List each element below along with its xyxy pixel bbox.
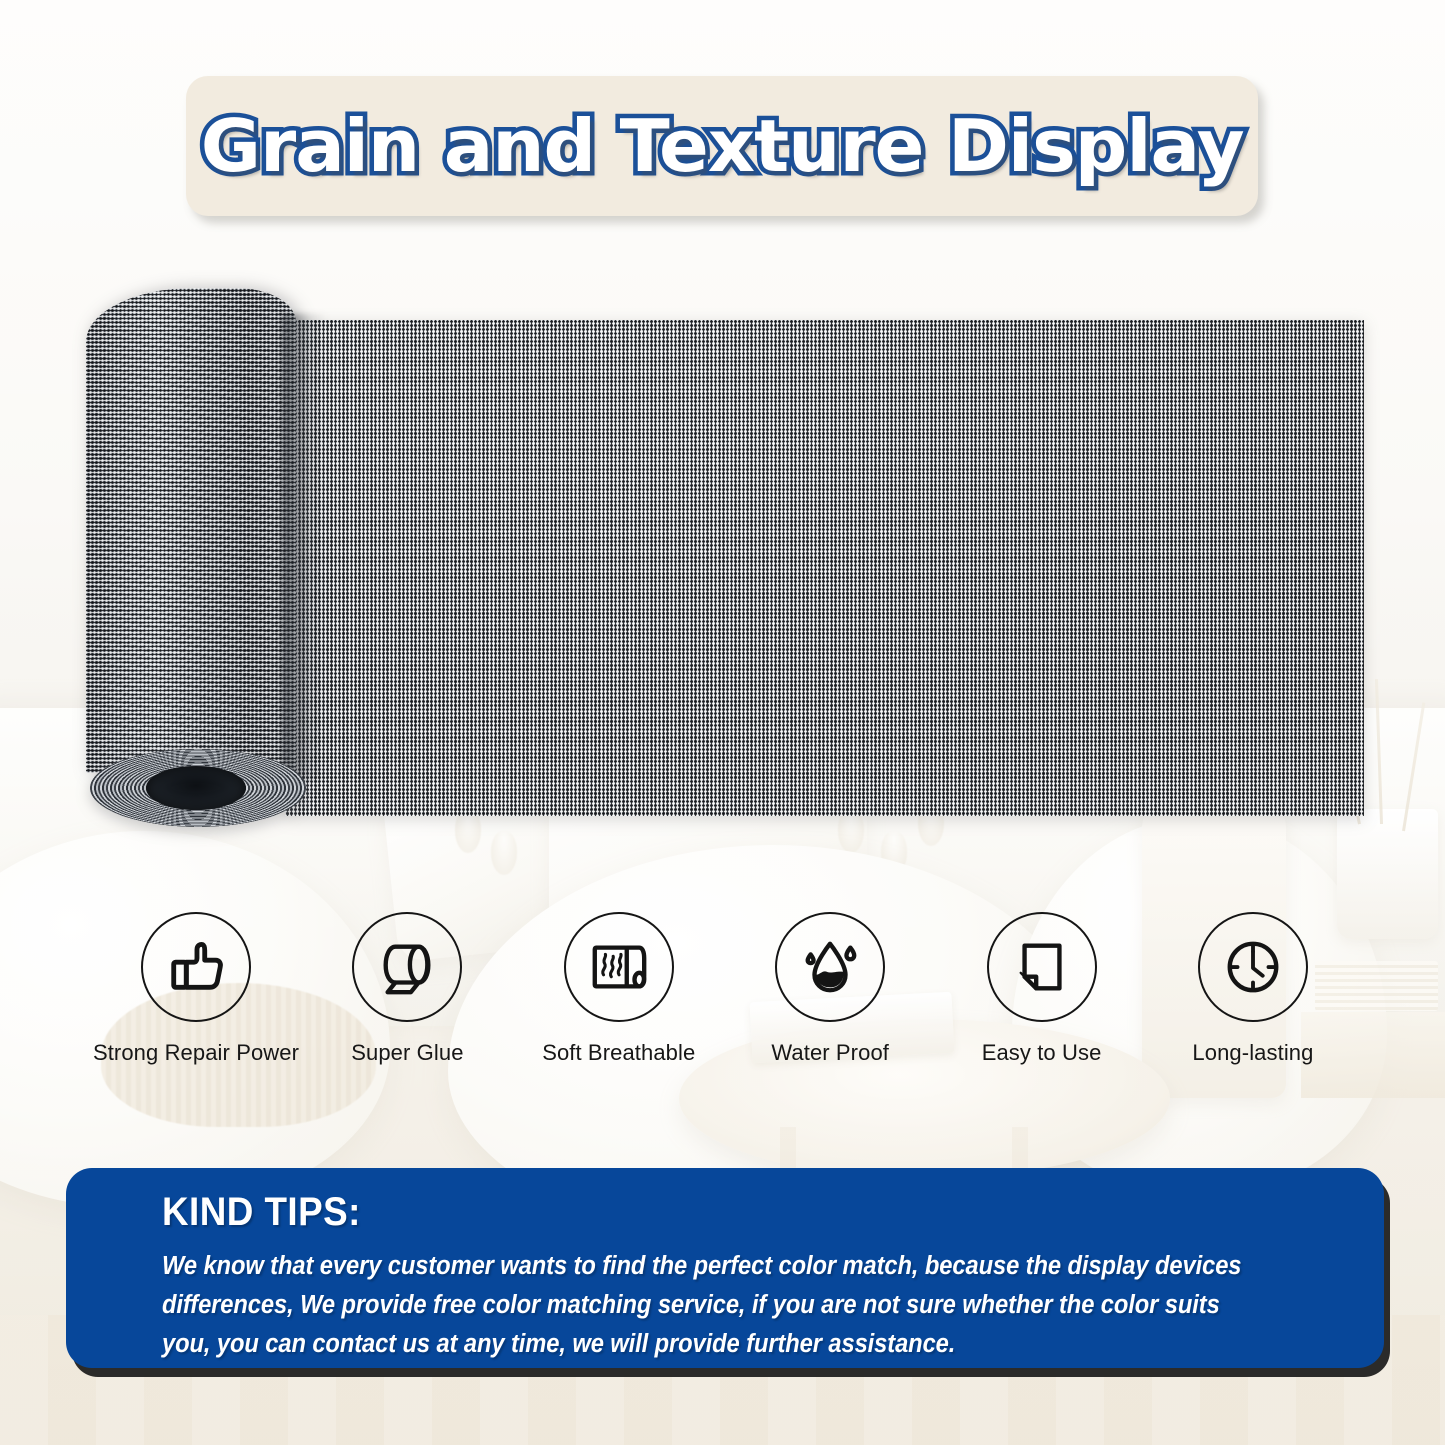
fabric-curl	[86, 288, 296, 773]
fabric-sheet	[285, 320, 1364, 816]
kind-tips-panel: KIND TIPS: We know that every customer w…	[66, 1168, 1384, 1368]
kind-tips-body: We know that every customer wants to fin…	[162, 1247, 1261, 1363]
product-marketing-image: Grain and Texture Display Strong Repair …	[0, 0, 1445, 1445]
feature-item-super-glue: Super Glue	[303, 912, 511, 1066]
feature-item-strong-repair-power: Strong Repair Power	[92, 912, 300, 1066]
roll-core	[146, 766, 245, 810]
thumbs-up-icon	[141, 912, 251, 1022]
roll-end-spiral	[90, 749, 306, 827]
feature-label: Super Glue	[351, 1040, 463, 1066]
feature-label: Water Proof	[771, 1040, 889, 1066]
title-banner: Grain and Texture Display	[186, 76, 1258, 216]
feature-item-long-lasting: Long-lasting	[1149, 912, 1357, 1066]
water-drop-icon	[775, 912, 885, 1022]
breathable-fabric-icon	[564, 912, 674, 1022]
feature-item-soft-breathable: Soft Breathable	[515, 912, 723, 1066]
feature-list: Strong Repair Power Super Glue	[92, 912, 1357, 1072]
page-title: Grain and Texture Display	[201, 104, 1244, 188]
feature-item-easy-to-use: Easy to Use	[938, 912, 1146, 1066]
clock-icon	[1198, 912, 1308, 1022]
feature-label: Strong Repair Power	[93, 1040, 299, 1066]
feature-label: Soft Breathable	[542, 1040, 695, 1066]
fabric-roll-image	[86, 288, 1364, 833]
feature-label: Long-lasting	[1192, 1040, 1313, 1066]
tape-roll-icon	[352, 912, 462, 1022]
peel-sheet-icon	[987, 912, 1097, 1022]
fabric-curl-shadow	[282, 314, 328, 781]
feature-label: Easy to Use	[982, 1040, 1102, 1066]
kind-tips-title: KIND TIPS:	[162, 1190, 1249, 1235]
feature-item-water-proof: Water Proof	[726, 912, 934, 1066]
